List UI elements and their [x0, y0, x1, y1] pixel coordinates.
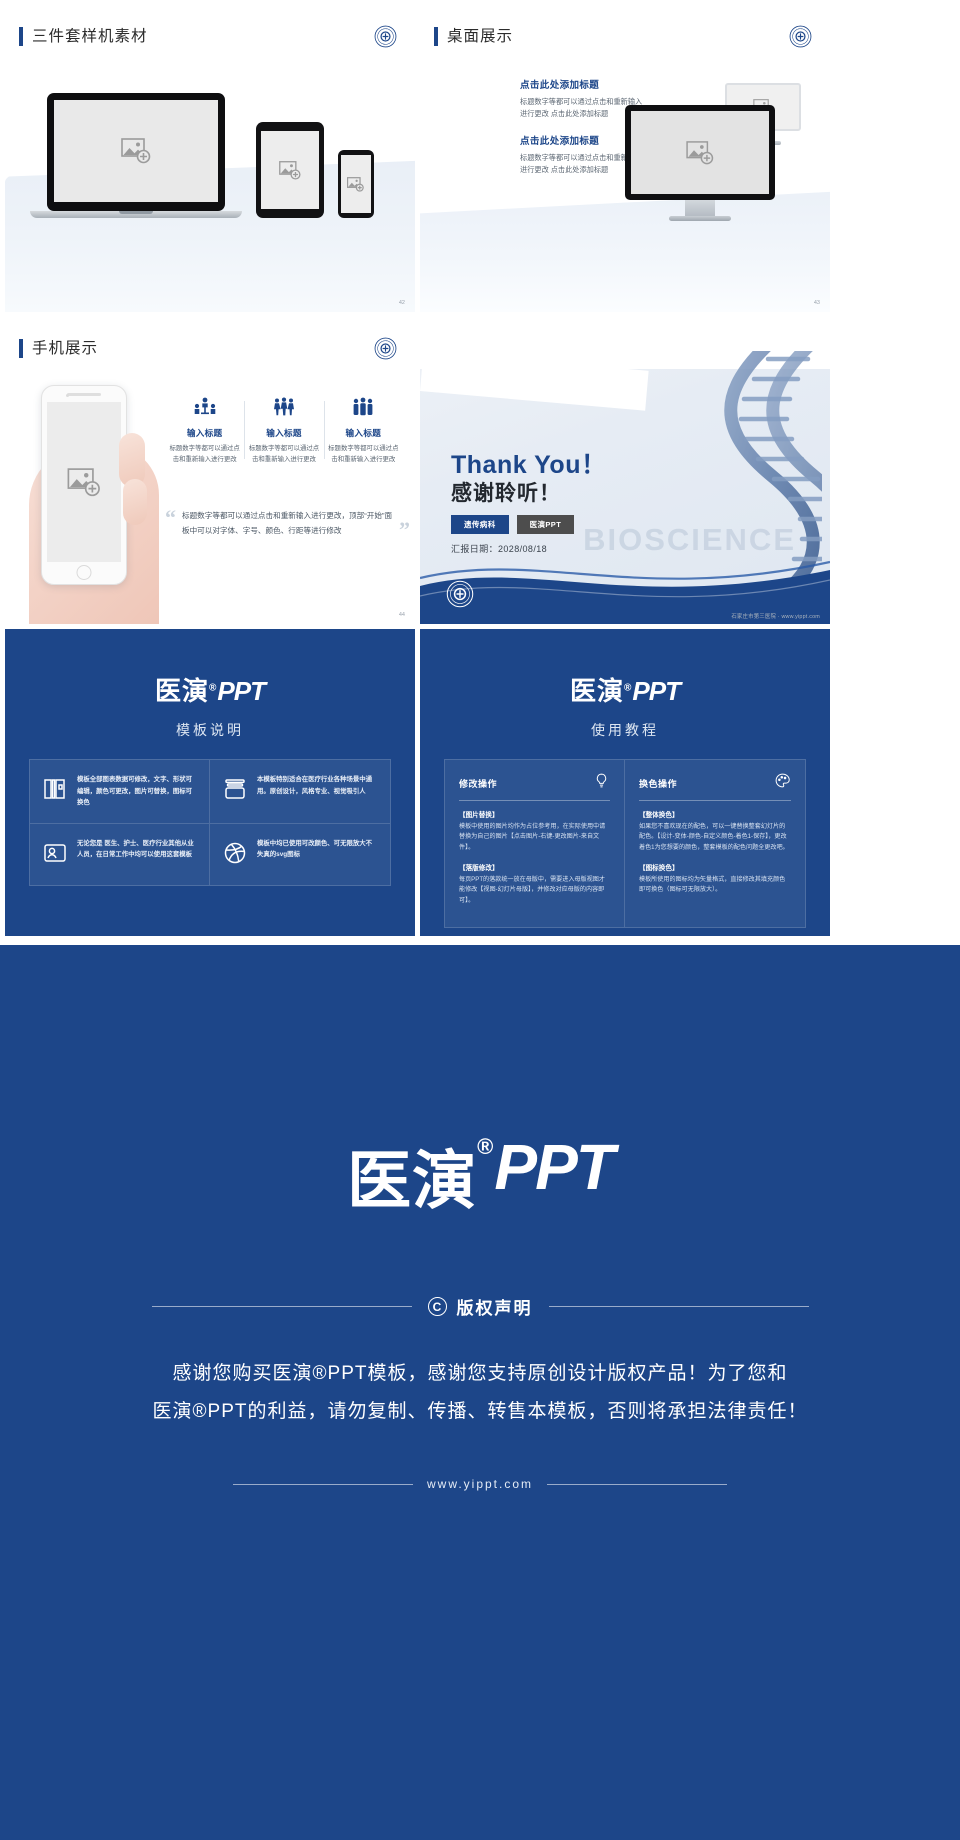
- slide1-page-number: 42: [399, 300, 405, 306]
- people-three-icon: [328, 395, 399, 421]
- divider-left: [152, 1306, 412, 1307]
- tutorial-heading-edit: 修改操作: [459, 777, 497, 790]
- info-card-3: 无论您是 医生、护士、医疗行业其他从业人员，在日常工作中均可以使用这套模板: [30, 824, 210, 885]
- copyright-paragraph-line-1: 感谢您购买医演®PPT模板，感谢您支持原创设计版权产品！为了您和: [153, 1355, 808, 1393]
- slide3-quote-text: 标题数字等都可以通过点击和重新输入进行更改，顶部“开始”面板中可以对字体、字号、…: [182, 509, 393, 539]
- tutorial-block-title-4: 【图标换色】: [639, 862, 791, 872]
- slide-thumb-desktop-display[interactable]: 桌面展示 点击此处添加标题 标题数字等都可以通过点击和重新输入进行更改 点击此处…: [420, 5, 830, 312]
- banner-brand-name: 医演: [347, 1130, 477, 1222]
- tutorial-block-global-color: 【整体换色】 如果您不喜欢现在的配色，可以一键替换整套幻灯片的配色。【设计-变体…: [639, 809, 791, 853]
- template-info-card-grid: 模板全部图表数据可修改，文字、形状可编辑，颜色可更改，图片可替换，图标可换色 本…: [29, 759, 391, 886]
- palette-icon: [774, 772, 791, 794]
- tutorial-block-text-1: 模板中使用的图片均作为占位参考用，在实际使用中请替换为自己的图片【点击图片-右键…: [459, 822, 610, 853]
- slide2-title-row: 桌面展示: [434, 27, 513, 46]
- slide1-title: 三件套样机素材: [32, 29, 148, 45]
- slide-thumb-phone-display[interactable]: 手机展示: [5, 317, 415, 624]
- divider-right: [549, 1306, 809, 1307]
- tutorial-column-color: 换色操作 【整体换色】 如果您不喜欢现在的配色，可以一键替换: [625, 760, 805, 927]
- info-card-4-text: 模板中均已使用可改颜色、可无限放大不失真的svg图标: [257, 838, 378, 861]
- device-mockups: [5, 93, 415, 218]
- feature-body-2: 标题数字等都可以通过点击和重新输入进行更改: [248, 444, 319, 465]
- banner-content: 医演®PPT C 版权声明 感谢您购买医演®PPT模板，感谢您支持原创设计版权产…: [0, 1130, 960, 1491]
- slide-thumb-template-info[interactable]: 医演®PPT 模板说明 模板全部图表数据可修改，文字、形状可编辑，颜色可更改，图…: [5, 629, 415, 936]
- brand-name: 医演: [570, 676, 624, 706]
- title-accent-bar: [19, 339, 23, 358]
- feature-heading-3: 输入标题: [328, 427, 399, 439]
- image-placeholder-icon: [347, 177, 364, 192]
- slide2-title: 桌面展示: [447, 29, 513, 45]
- copyright-title: 版权声明: [457, 1294, 533, 1319]
- hospital-seal-logo-icon: [374, 337, 397, 360]
- tutorial-block-text-3: 如果您不喜欢现在的配色，可以一键替换整套幻灯片的配色。【设计-变体-颜色-自定义…: [639, 822, 791, 853]
- slide3-page-number: 44: [399, 612, 405, 618]
- tablet-mockup: [256, 122, 324, 218]
- brand-ppt: PPT: [632, 676, 680, 706]
- team-group-icon: [169, 395, 240, 421]
- tutorial-block-image-replace: 【图片替换】 模板中使用的图片均作为占位参考用，在实际使用中请替换为自己的图片【…: [459, 809, 610, 853]
- feature-body-1: 标题数字等都可以通过点击和重新输入进行更改: [169, 444, 240, 465]
- tutorial-block-title-2: 【落版修改】: [459, 862, 610, 872]
- brand-ppt: PPT: [217, 676, 265, 706]
- divider-left-bottom: [233, 1484, 413, 1485]
- tag-department[interactable]: 遗传病科: [451, 515, 509, 534]
- feature-heading-2: 输入标题: [248, 427, 319, 439]
- info-card-3-text: 无论您是 医生、护士、医疗行业其他从业人员，在日常工作中均可以使用这套模板: [77, 838, 197, 861]
- copyright-circle-icon: C: [428, 1297, 447, 1316]
- brand-name: 医演: [155, 676, 209, 706]
- slide3-feature-columns: 输入标题 标题数字等都可以通过点击和重新输入进行更改 输入标题 标题数字等都可以…: [165, 395, 403, 465]
- copyright-paragraph-line-2: 医演®PPT的利益，请勿复制、传播、转售本模板，否则将承担法律责任！: [153, 1393, 808, 1431]
- slide3-title-row: 手机展示: [19, 339, 98, 358]
- slide-thumbnail-grid: 三件套样机素材: [0, 0, 960, 936]
- hand-holding-phone-photo: [19, 375, 169, 624]
- dribbble-icon: [222, 838, 248, 871]
- info-card-4: 模板中均已使用可改颜色、可无限放大不失真的svg图标: [210, 824, 390, 885]
- tutorial-grid: 修改操作 【图片替换】 模板中使用的图片均作为占位参考用，在实际使用中请替换为自…: [444, 759, 806, 928]
- slide4-title-en: Thank You！: [451, 445, 606, 481]
- slide3-quote-block: “ 标题数字等都可以通过点击和重新输入进行更改，顶部“开始”面板中可以对字体、字…: [165, 509, 410, 539]
- phone-mockup: [338, 150, 374, 218]
- info-card-1-text: 模板全部图表数据可修改，文字、形状可编辑，颜色可更改，图片可替换，图标可换色: [77, 774, 197, 809]
- slide-thumb-tutorial[interactable]: 医演®PPT 使用教程 修改操作 【图片替换】: [420, 629, 830, 936]
- slide4-tag-group: 遗传病科 医演PPT: [451, 515, 574, 534]
- copyright-banner: 医演®PPT C 版权声明 感谢您购买医演®PPT模板，感谢您支持原创设计版权产…: [0, 945, 960, 1840]
- image-placeholder-icon: [279, 161, 301, 180]
- slide4-footer-text: 石家庄市第三医院 · www.yippt.com: [731, 612, 820, 620]
- image-placeholder-icon: [686, 141, 714, 165]
- quote-open-icon: “: [165, 509, 176, 539]
- feature-body-3: 标题数字等都可以通过点击和重新输入进行更改: [328, 444, 399, 465]
- image-placeholder-icon: [67, 468, 101, 497]
- banner-brand-ppt: PPT: [494, 1130, 612, 1204]
- info-card-1: 模板全部图表数据可修改，文字、形状可编辑，颜色可更改，图片可替换，图标可换色: [30, 760, 210, 824]
- feature-heading-1: 输入标题: [169, 427, 240, 439]
- ppt-template-preview-page: 三件套样机素材: [0, 0, 960, 1840]
- copyright-title-row: C 版权声明: [152, 1294, 809, 1319]
- title-accent-bar: [434, 27, 438, 46]
- copyright-title-group: C 版权声明: [428, 1294, 533, 1319]
- laptop-mockup: [47, 93, 242, 218]
- title-accent-bar: [19, 27, 23, 46]
- quote-close-icon: ”: [399, 521, 410, 539]
- tutorial-column-edit: 修改操作 【图片替换】 模板中使用的图片均作为占位参考用，在实际使用中请替换为自…: [445, 760, 625, 927]
- tutorial-block-title-1: 【图片替换】: [459, 809, 610, 819]
- banner-brand-logo: 医演®PPT: [347, 1130, 613, 1222]
- hospital-seal-logo-icon: [446, 580, 474, 608]
- box-layers-icon: [222, 774, 248, 807]
- copyright-paragraph: 感谢您购买医演®PPT模板，感谢您支持原创设计版权产品！为了您和 医演®PPT的…: [153, 1355, 808, 1431]
- slide4-title-cn: 感谢聆听！: [451, 477, 561, 507]
- slide3-title: 手机展示: [32, 341, 98, 357]
- brand-logo-tutorial: 医演®PPT: [420, 629, 830, 708]
- tutorial-block-text-4: 模板所使用的图标均为矢量格式，直接修改其填充颜色即可换色（图标可无限放大）。: [639, 875, 791, 896]
- book-pages-icon: [42, 774, 68, 807]
- feature-column-3: 输入标题 标题数字等都可以通过点击和重新输入进行更改: [324, 395, 403, 465]
- website-url[interactable]: www.yippt.com: [427, 1477, 533, 1491]
- divider-right-bottom: [547, 1484, 727, 1485]
- tutorial-head-color: 换色操作: [639, 772, 791, 801]
- image-placeholder-icon: [121, 138, 151, 164]
- template-info-subtitle: 模板说明: [5, 720, 415, 740]
- slide-thumb-thank-you[interactable]: BIOSCIENCE Thank You！ 感谢聆听！ 遗传病科 医演PPT 汇…: [420, 317, 830, 624]
- feature-column-2: 输入标题 标题数字等都可以通过点击和重新输入进行更改: [244, 395, 323, 465]
- tutorial-block-master-edit: 【落版修改】 每页PPT的落款统一放在母版中，需要进入母版视图才能修改【视图-幻…: [459, 862, 610, 906]
- feature-column-1: 输入标题 标题数字等都可以通过点击和重新输入进行更改: [165, 395, 244, 465]
- brand-logo-template-info: 医演®PPT: [5, 629, 415, 708]
- slide-thumb-mockup-set[interactable]: 三件套样机素材: [5, 5, 415, 312]
- tutorial-heading-color: 换色操作: [639, 777, 677, 790]
- slide2-page-number: 43: [814, 300, 820, 306]
- people-walking-icon: [248, 395, 319, 421]
- hospital-seal-logo-icon: [789, 25, 812, 48]
- lightbulb-icon: [593, 772, 610, 794]
- user-card-icon: [42, 838, 68, 871]
- site-row: www.yippt.com: [233, 1477, 727, 1491]
- tutorial-block-title-3: 【整体换色】: [639, 809, 791, 819]
- info-card-2-text: 本模板特别适合在医疗行业各种场景中通用。原创设计，风格专业、视觉吸引人: [257, 774, 378, 797]
- banner-registered-mark: ®: [477, 1136, 494, 1158]
- tutorial-head-edit: 修改操作: [459, 772, 610, 801]
- tutorial-subtitle: 使用教程: [420, 720, 830, 740]
- primary-monitor-mockup: [625, 105, 775, 221]
- slide1-title-row: 三件套样机素材: [19, 27, 148, 46]
- tutorial-block-text-2: 每页PPT的落款统一放在母版中，需要进入母版视图才能修改【视图-幻灯片母版】，并…: [459, 875, 610, 906]
- tag-brand[interactable]: 医演PPT: [517, 515, 575, 534]
- hospital-seal-logo-icon: [374, 25, 397, 48]
- info-card-2: 本模板特别适合在医疗行业各种场景中通用。原创设计，风格专业、视觉吸引人: [210, 760, 390, 824]
- tutorial-block-icon-color: 【图标换色】 模板所使用的图标均为矢量格式，直接修改其填充颜色即可换色（图标可无…: [639, 862, 791, 896]
- slide2-heading-1: 点击此处添加标题: [520, 77, 644, 91]
